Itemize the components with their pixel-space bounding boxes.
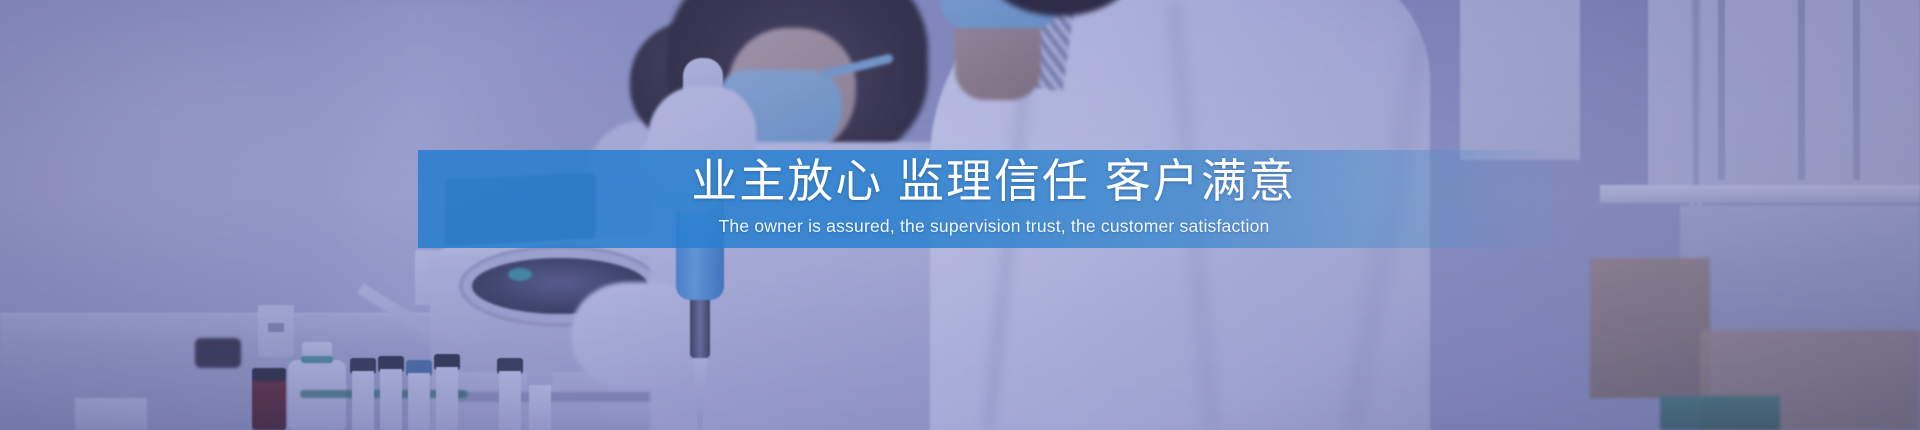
headline-band-content: 业主放心 监理信任 客户满意 The owner is assured, the… <box>418 150 1580 248</box>
banner-headline: 业主放心 监理信任 客户满意 <box>691 158 1297 204</box>
hero-banner: 业主放心 监理信任 客户满意 The owner is assured, the… <box>0 0 1920 430</box>
banner-subheadline: The owner is assured, the supervision tr… <box>719 218 1270 236</box>
